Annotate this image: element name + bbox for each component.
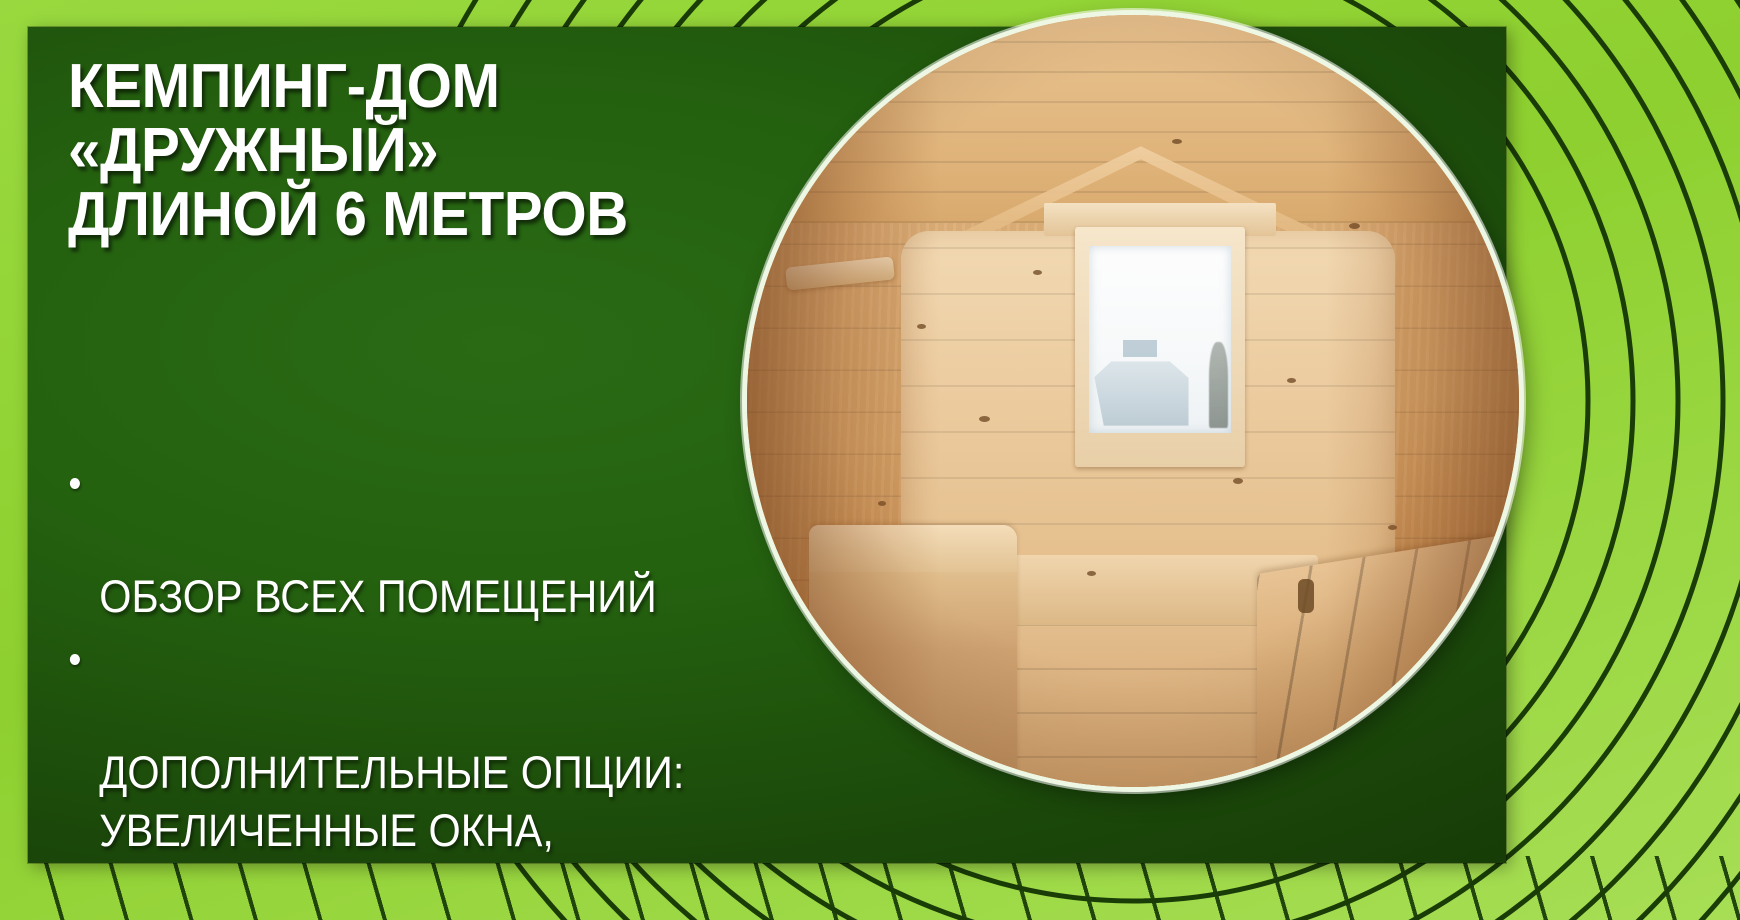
window-frame xyxy=(1075,227,1245,466)
cabin-interior-photo xyxy=(747,15,1519,787)
list-item: ОБЗОР ВСЕХ ПОМЕЩЕНИЙ xyxy=(68,452,767,626)
bottom-stripe-pattern xyxy=(0,856,1740,920)
list-item: ДОПОЛНИТЕЛЬНЫЕ ОПЦИИ: УВЕЛИЧЕННЫЕ ОКНА, … xyxy=(68,628,767,863)
page-title: КЕМПИНГ-ДОМ «ДРУЖНЫЙ» ДЛИНОЙ 6 МЕТРОВ xyxy=(68,55,745,247)
outside-tree xyxy=(1209,342,1229,428)
feature-list: ОБЗОР ВСЕХ ПОМЕЩЕНИЙ ДОПОЛНИТЕЛЬНЫЕ ОПЦИ… xyxy=(68,452,767,863)
bullet-dot-icon xyxy=(70,478,80,489)
bullet-dot-icon xyxy=(70,654,80,665)
window-glass xyxy=(1089,246,1232,433)
wood-knot xyxy=(1033,270,1042,275)
outside-object xyxy=(1094,351,1188,426)
right-wall-shading xyxy=(1326,15,1519,787)
list-item-label: ДОПОЛНИТЕЛЬНЫЕ ОПЦИИ: УВЕЛИЧЕННЫЕ ОКНА, … xyxy=(99,747,701,863)
photo-canvas xyxy=(747,15,1519,787)
text-column: КЕМПИНГ-ДОМ «ДРУЖНЫЙ» ДЛИНОЙ 6 МЕТРОВ ОБ… xyxy=(68,27,808,863)
wood-knot xyxy=(1172,139,1182,144)
wood-knot xyxy=(1087,571,1096,576)
promo-banner: КЕМПИНГ-ДОМ «ДРУЖНЫЙ» ДЛИНОЙ 6 МЕТРОВ ОБ… xyxy=(0,0,1740,920)
left-wall-shading xyxy=(747,15,940,787)
outside-object-secondary xyxy=(1123,340,1157,357)
wall-hook xyxy=(1298,579,1314,613)
list-item-label: ОБЗОР ВСЕХ ПОМЕЩЕНИЙ xyxy=(99,571,657,622)
